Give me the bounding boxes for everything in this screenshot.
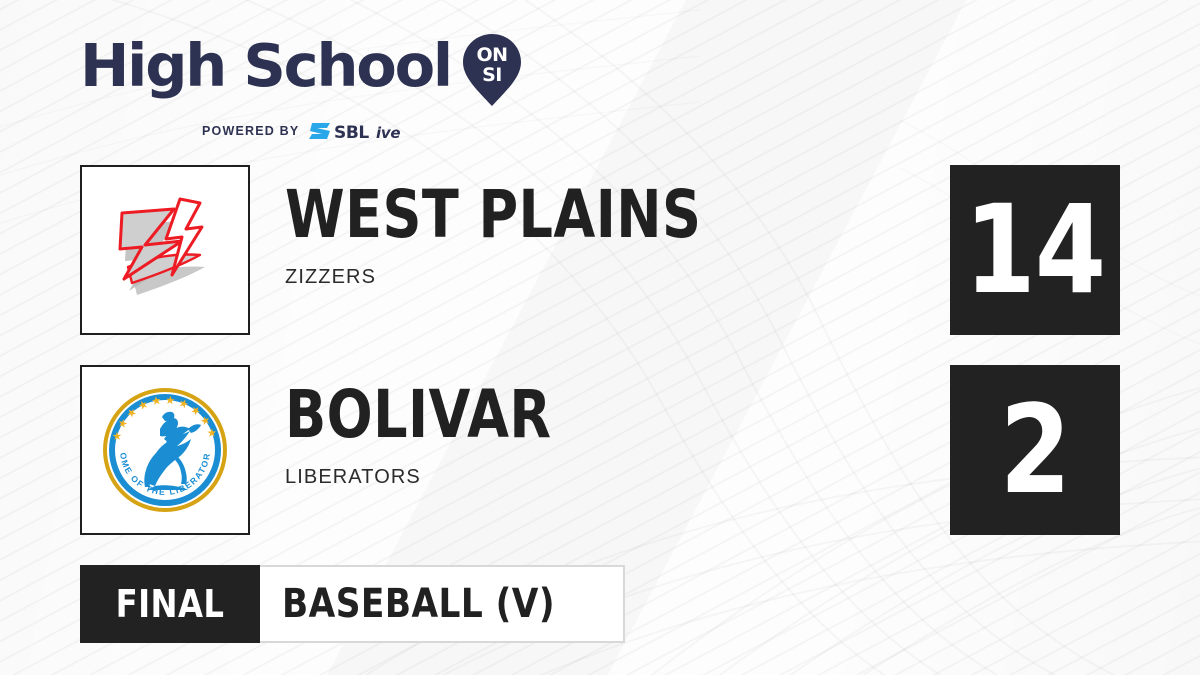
bolivar-liberators-seal-logo-icon: HOME OF THE LIBERATORS [102,387,228,513]
team-score-box: 14 [950,165,1120,335]
game-status-bar: FINAL BASEBALL (V) [80,565,625,643]
svg-text:ive: ive [376,124,400,142]
sport-label: BASEBALL (V) [282,581,555,627]
team-name: WEST PLAINS [285,185,701,246]
scoreboard-graphic: High School ON SI POWERED BY SBL ive [0,0,1200,675]
powered-by-label: POWERED BY [202,124,299,138]
team-score: 2 [1000,389,1070,511]
brand-wordmark-row: High School ON SI [80,36,521,111]
zizzers-z-lightning-logo-icon [100,185,230,315]
team-logo-frame: HOME OF THE LIBERATORS [80,365,250,535]
team-mascot: LIBERATORS [285,466,610,489]
game-state-label: FINAL [116,582,225,626]
brand-wordmark: High School [80,36,451,95]
team-text-block: WEST PLAINS ZIZZERS [285,185,793,289]
sport-label-box: BASEBALL (V) [260,565,625,643]
brand-block: High School ON SI POWERED BY SBL ive [80,36,521,142]
team-mascot: ZIZZERS [285,266,793,289]
team-text-block: BOLIVAR LIBERATORS [285,385,610,489]
team-score-box: 2 [950,365,1120,535]
onsi-pin-icon: ON SI [463,34,521,111]
powered-by-row: POWERED BY SBL ive [202,120,521,142]
sblive-logo: SBL ive [308,120,412,142]
svg-text:SI: SI [482,64,502,86]
svg-text:ON: ON [476,44,507,66]
team-score: 14 [965,189,1106,311]
team-name: BOLIVAR [285,385,552,446]
team-logo-frame [80,165,250,335]
game-state-badge: FINAL [80,565,260,643]
svg-text:SBL: SBL [334,123,369,142]
